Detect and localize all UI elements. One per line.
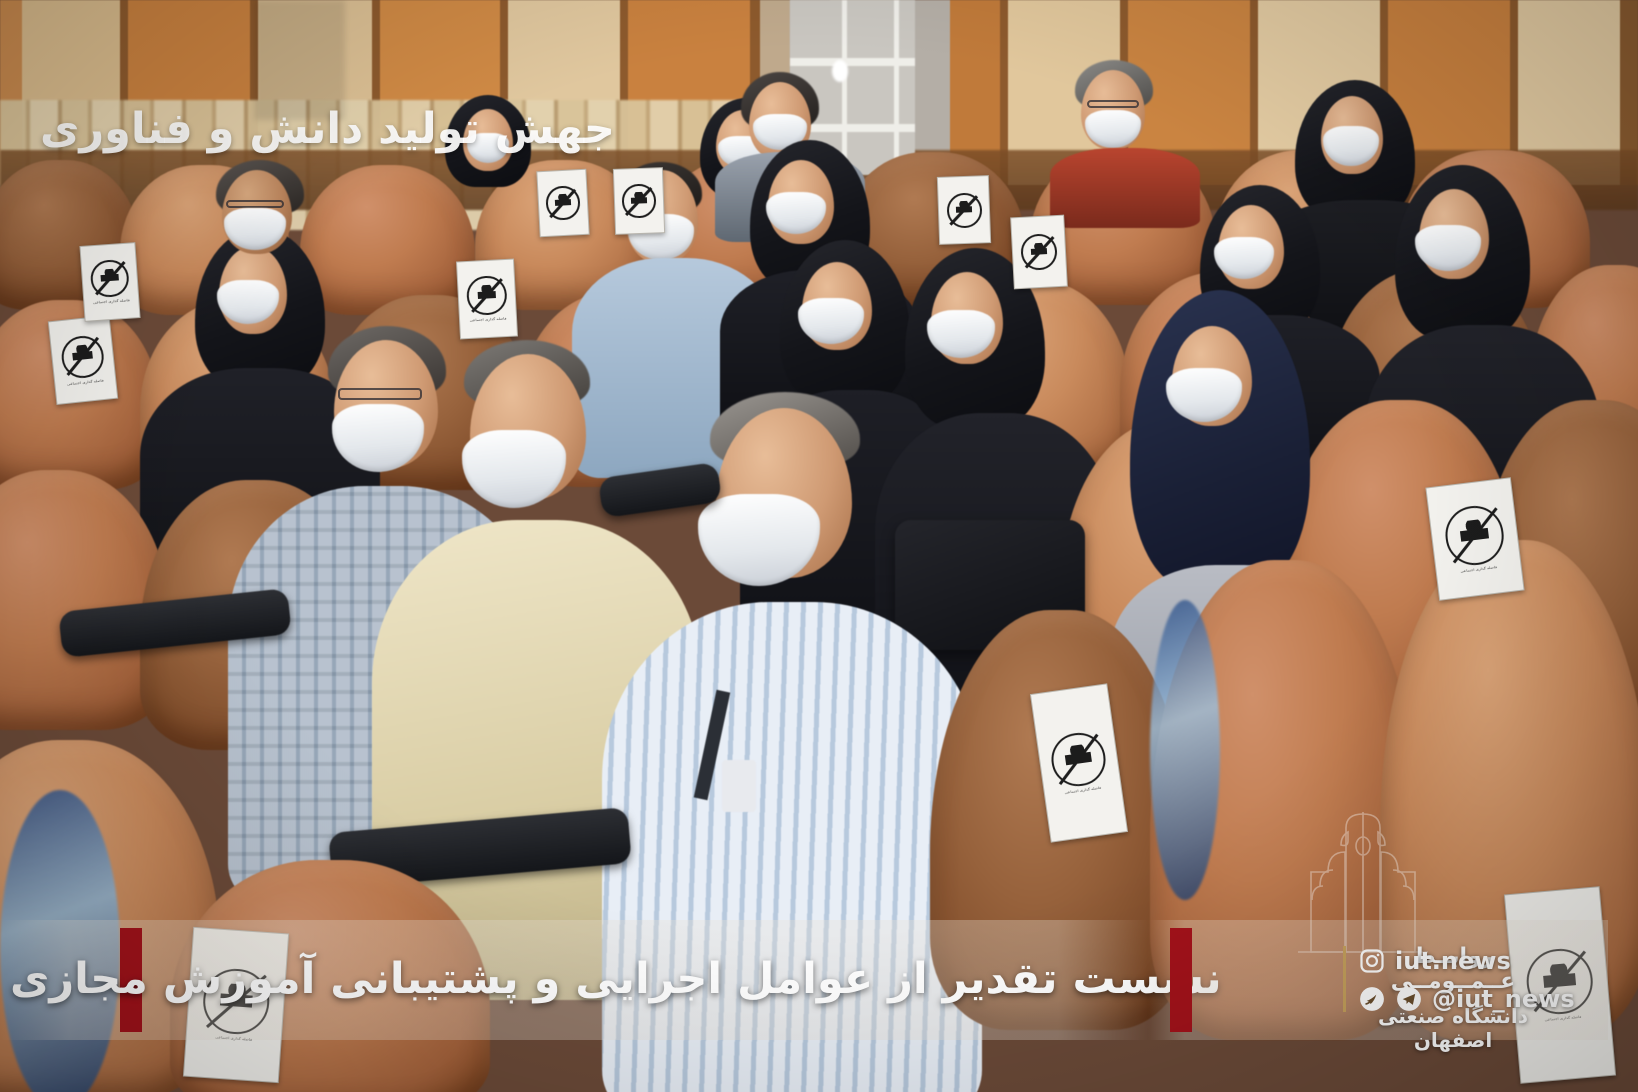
- lanyard-badge: [722, 760, 756, 812]
- photo-caption: نشست تقدیر از عوامل اجرایی و پشتیبانی آم…: [0, 924, 1010, 1034]
- glasses-icon: [1087, 100, 1139, 108]
- no-sitting-sign: [613, 167, 665, 235]
- instagram-handle: iut.news: [1395, 947, 1511, 975]
- branding-bar: روابــط عــمــومــی دانشگاه صنعتی اصفهان…: [1148, 920, 1608, 1040]
- no-sitting-icon: [60, 333, 106, 379]
- wall-shadow: [255, 0, 345, 120]
- watermark-slogan: جهش تولید دانش و فناوری: [40, 104, 615, 154]
- no-sitting-sign: فاصله گذاری اجتماعی: [456, 259, 518, 340]
- branding-divider: [1343, 946, 1346, 1012]
- social-row-messengers[interactable]: @iut_news: [1358, 980, 1608, 1018]
- seat: [300, 165, 475, 315]
- no-sitting-sign: فاصله گذاری اجتماعی: [1425, 477, 1524, 601]
- social-row-instagram[interactable]: iut.news: [1358, 942, 1608, 980]
- no-sitting-sign: فاصله گذاری اجتماعی: [79, 242, 140, 322]
- no-sitting-icon: [1048, 729, 1108, 789]
- no-sitting-icon: [622, 184, 657, 219]
- eitaa-icon: [1358, 985, 1386, 1013]
- social-links: iut.news @iut_news: [1358, 942, 1608, 1018]
- instagram-icon: [1358, 947, 1386, 975]
- no-sitting-icon: [946, 192, 982, 228]
- glasses-icon: [338, 388, 422, 400]
- glasses-icon: [226, 200, 284, 208]
- sign-caption: فاصله گذاری اجتماعی: [1460, 565, 1497, 573]
- no-sitting-sign: [536, 169, 589, 238]
- messenger-handle: @iut_news: [1432, 985, 1575, 1013]
- no-sitting-sign: [937, 175, 991, 245]
- sign-caption: فاصله گذاری اجتماعی: [470, 317, 507, 323]
- sign-caption: فاصله گذاری اجتماعی: [67, 378, 104, 386]
- no-sitting-icon: [466, 275, 507, 316]
- sign-caption: فاصله گذاری اجتماعی: [1064, 786, 1101, 795]
- seat-trim: [1150, 600, 1220, 900]
- no-sitting-icon: [545, 185, 580, 220]
- branding-accent-bar: [1170, 928, 1192, 1032]
- no-sitting-icon: [1442, 503, 1508, 569]
- sign-caption: فاصله گذاری اجتماعی: [93, 299, 130, 306]
- photo-canvas: فاصله گذاری اجتماعی فاصله گذاری اجتماعی …: [0, 0, 1638, 1092]
- no-sitting-icon: [1020, 233, 1058, 271]
- no-sitting-sign: فاصله گذاری اجتماعی: [48, 315, 118, 405]
- no-sitting-sign: [1010, 215, 1068, 290]
- no-sitting-icon: [90, 258, 130, 298]
- telegram-icon: [1395, 985, 1423, 1013]
